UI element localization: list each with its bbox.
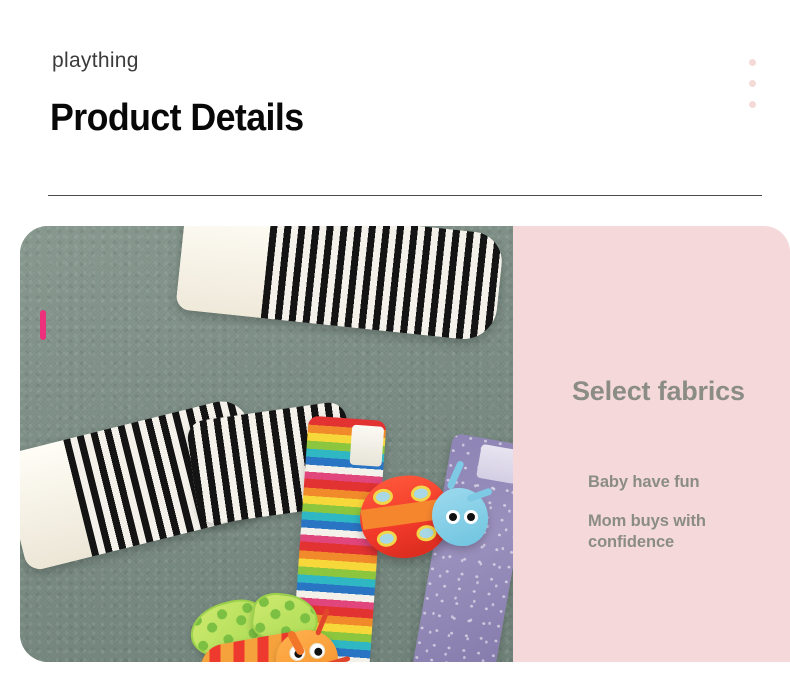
ladybug-spot bbox=[376, 529, 398, 548]
product-detail-card: Select fabrics Baby have fun Mom buys wi… bbox=[20, 226, 790, 662]
butterfly-eye bbox=[308, 642, 326, 660]
dot-2 bbox=[749, 80, 756, 87]
dot-3 bbox=[749, 101, 756, 108]
toy-leg bbox=[40, 310, 46, 340]
ladybug-eye bbox=[446, 510, 460, 524]
product-photo[interactable] bbox=[20, 226, 513, 662]
info-panel: Select fabrics Baby have fun Mom buys wi… bbox=[512, 226, 790, 662]
vertical-dots-icon[interactable] bbox=[749, 59, 758, 111]
page-header: plaything Product Details bbox=[0, 0, 790, 226]
velcro-strap bbox=[476, 444, 513, 484]
header-divider bbox=[48, 195, 762, 196]
dot-1 bbox=[749, 59, 756, 66]
ladybug-spot bbox=[372, 488, 394, 507]
ladybug-eye bbox=[464, 510, 478, 524]
info-panel-line-2: Mom buys with confidence bbox=[588, 511, 748, 553]
info-panel-line-1: Baby have fun bbox=[588, 472, 699, 493]
product-details-page: plaything Product Details Select fabrics… bbox=[0, 0, 790, 681]
page-eyebrow: plaything bbox=[52, 50, 139, 71]
page-title: Product Details bbox=[50, 99, 304, 139]
velcro-strap bbox=[349, 425, 384, 467]
info-panel-heading: Select fabrics bbox=[572, 378, 745, 405]
sock-cuff bbox=[175, 226, 272, 318]
